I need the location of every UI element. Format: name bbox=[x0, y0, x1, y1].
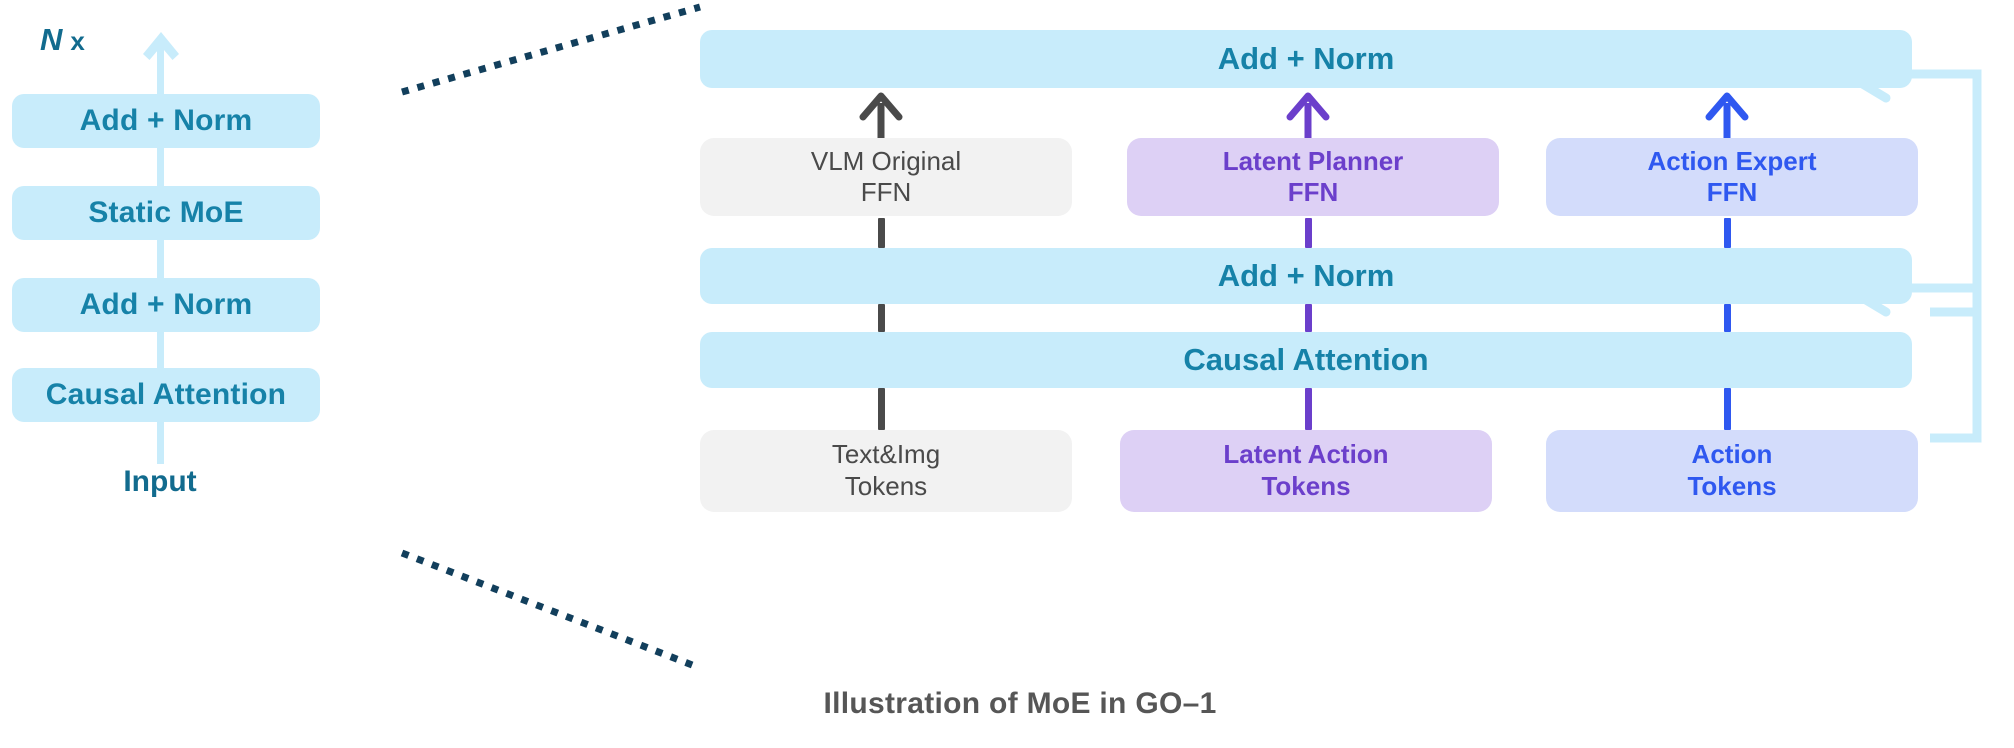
token-box-action: ActionTokens bbox=[1546, 430, 1918, 512]
left-connector-bottom bbox=[157, 420, 164, 464]
vlm-ffn-arrow-icon bbox=[863, 96, 899, 138]
latent-planner-ffn-arrow-icon bbox=[1290, 96, 1326, 138]
diagram-canvas: N x Add + Norm Static MoE Add + Norm Cau… bbox=[0, 0, 2014, 748]
right-bar-causal-attention: Causal Attention bbox=[700, 332, 1912, 388]
token-label-latent-action: Latent ActionTokens bbox=[1223, 439, 1388, 502]
right-bar-add-norm-top: Add + Norm bbox=[700, 30, 1912, 88]
stub-tokens-to-attn-grey bbox=[878, 388, 885, 430]
stub-tokens-to-attn-blue bbox=[1724, 388, 1731, 430]
left-connector-2 bbox=[157, 240, 164, 280]
expert-box-latent-planner-ffn: Latent PlannerFFN bbox=[1127, 138, 1499, 216]
stub-addnorm-to-attn-blue bbox=[1724, 304, 1731, 332]
left-block-add-norm-top: Add + Norm bbox=[12, 94, 320, 148]
figure-caption: Illustration of MoE in GO–1 bbox=[540, 687, 1500, 721]
token-box-text-img: Text&ImgTokens bbox=[700, 430, 1072, 512]
repeat-count-x: x bbox=[63, 26, 85, 56]
token-label-action: ActionTokens bbox=[1687, 439, 1776, 502]
expert-box-vlm-original-ffn: VLM OriginalFFN bbox=[700, 138, 1072, 216]
stub-planner-to-addnorm bbox=[1305, 218, 1312, 248]
left-connector-top bbox=[157, 40, 164, 100]
input-label: Input bbox=[0, 465, 320, 499]
stub-vlm-to-addnorm bbox=[878, 218, 885, 248]
left-block-causal-attention: Causal Attention bbox=[12, 368, 320, 422]
stub-tokens-to-attn-purple bbox=[1305, 388, 1312, 430]
left-connector-3 bbox=[157, 332, 164, 372]
repeat-count-n: N bbox=[40, 22, 63, 57]
dotted-connector-top bbox=[402, 7, 700, 92]
stub-action-to-addnorm bbox=[1724, 218, 1731, 248]
token-label-text-img: Text&ImgTokens bbox=[832, 439, 940, 502]
left-block-static-moe: Static MoE bbox=[12, 186, 320, 240]
stub-addnorm-to-attn-purple bbox=[1305, 304, 1312, 332]
dotted-connector-bottom bbox=[402, 553, 700, 668]
expert-label-latent-planner-ffn: Latent PlannerFFN bbox=[1223, 146, 1404, 207]
expert-label-action-expert-ffn: Action ExpertFFN bbox=[1647, 146, 1816, 207]
expert-box-action-expert-ffn: Action ExpertFFN bbox=[1546, 138, 1918, 216]
left-block-add-norm-bottom: Add + Norm bbox=[12, 278, 320, 332]
stub-addnorm-to-attn-grey bbox=[878, 304, 885, 332]
right-bar-add-norm-mid: Add + Norm bbox=[700, 248, 1912, 304]
repeat-count-label: N x bbox=[40, 22, 85, 58]
left-connector-1 bbox=[157, 148, 164, 188]
expert-label-vlm-original-ffn: VLM OriginalFFN bbox=[811, 146, 961, 207]
token-box-latent-action: Latent ActionTokens bbox=[1120, 430, 1492, 512]
action-expert-ffn-arrow-icon bbox=[1709, 96, 1745, 138]
